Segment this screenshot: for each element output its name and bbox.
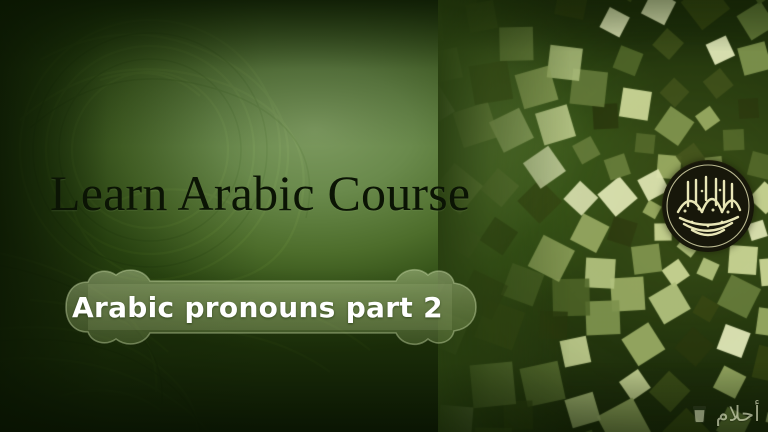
subtitle-text: Arabic pronouns part 2 [36,262,504,352]
ahlam-cup-logo-icon [688,402,712,426]
subtitle-banner: Arabic pronouns part 2 [36,262,504,352]
quran-medallion-icon [662,160,754,252]
watermark-text: أحلام [716,402,760,426]
page-title: Learn Arabic Course [50,168,470,218]
slide-canvas: Learn Arabic Course Arabic pronouns part… [0,0,768,432]
watermark: أحلام [688,402,760,426]
